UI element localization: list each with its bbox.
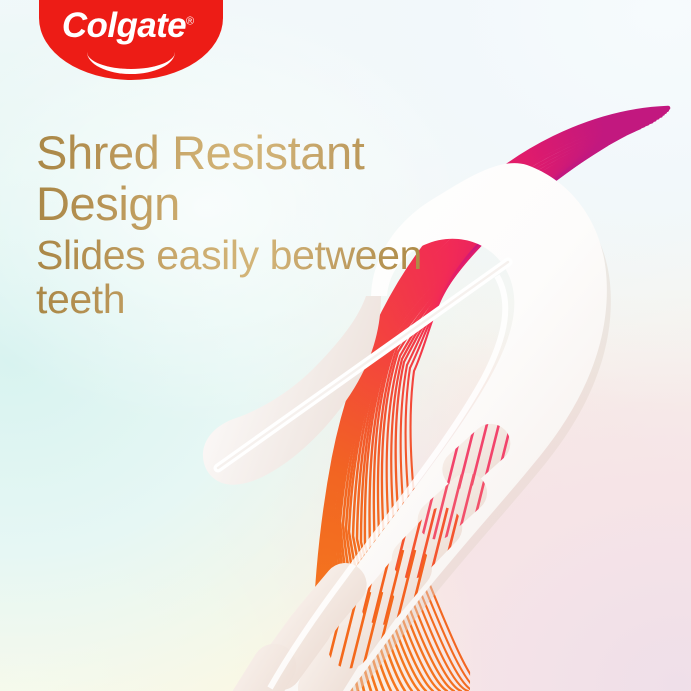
colgate-smile-icon <box>87 48 175 74</box>
colgate-wordmark-text: Colgate <box>62 6 186 45</box>
headline-primary: Shred Resistant Design <box>36 128 436 230</box>
product-banner: Colgate® Shred Resistant Design Slides e… <box>0 0 691 691</box>
colgate-logo-inner: Colgate® <box>39 8 223 74</box>
colgate-logo: Colgate® <box>39 0 223 80</box>
headline-secondary: Slides easily between teeth <box>36 233 436 322</box>
registered-trademark-icon: ® <box>186 15 194 27</box>
headline-block: Shred Resistant Design Slides easily bet… <box>36 128 436 321</box>
background-sheen-overlay <box>0 0 691 691</box>
colgate-wordmark: Colgate® <box>39 8 220 43</box>
